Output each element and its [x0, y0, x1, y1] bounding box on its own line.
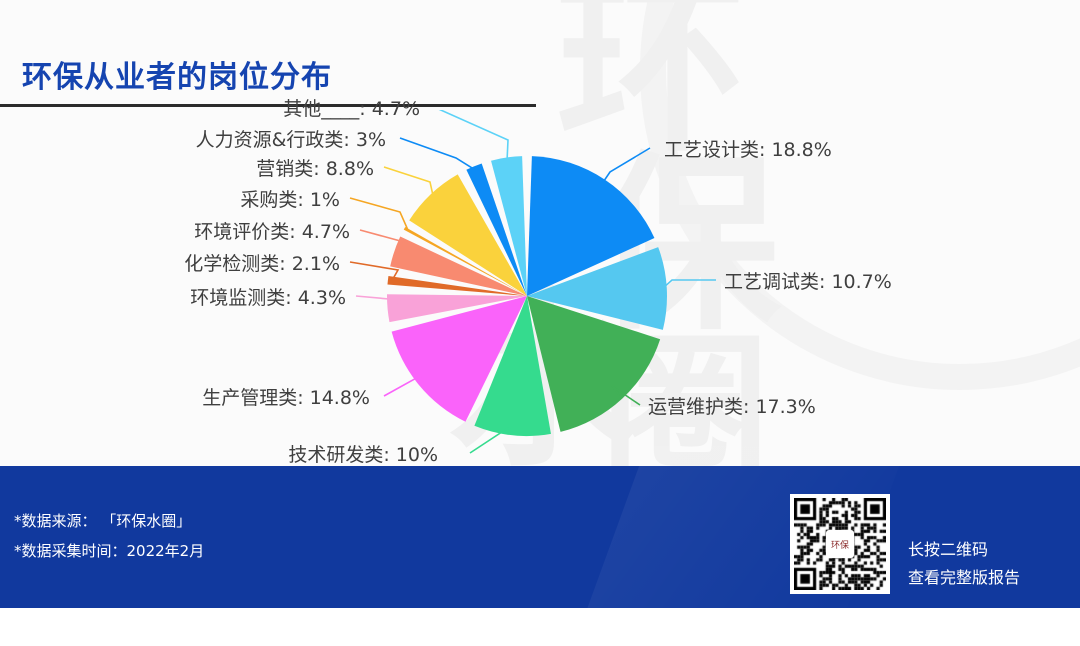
pie-chart [0, 110, 1080, 500]
pie-label: 环境监测类: 4.3% [190, 283, 346, 310]
pie-label: 技术研发类: 10% [288, 440, 438, 467]
leader-line [384, 167, 433, 197]
leader-line [350, 198, 408, 230]
leader-line [400, 138, 475, 170]
data-source-text: *数据来源： 「环保水圈」 [14, 510, 191, 531]
pie-label: 化学检测类: 2.1% [184, 249, 340, 276]
pie-label: 工艺设计类: 18.8% [664, 135, 832, 162]
pie-label: 人力资源&行政类: 3% [196, 125, 386, 152]
leader-line [603, 148, 650, 183]
pie-label: 环境评价类: 4.7% [194, 217, 350, 244]
slide-canvas: 环 保 水 圈 环保从业者的岗位分布 *数据来源： 「环保水圈」 *数据采集时间… [0, 0, 1080, 608]
pie-label: 其他____: 4.7% [283, 94, 420, 121]
qr-center-logo: 环保 [826, 530, 854, 558]
pie-label: 生产管理类: 14.8% [202, 383, 370, 410]
page-title: 环保从业者的岗位分布 [22, 52, 332, 96]
qr-caption-line-2: 查看完整版报告 [908, 564, 1020, 588]
pie-chart-svg [0, 110, 1080, 500]
pie-label: 营销类: 8.8% [256, 154, 374, 181]
leader-line [384, 376, 422, 396]
data-time-text: *数据采集时间：2022年2月 [14, 540, 204, 561]
pie-label: 工艺调试类: 10.7% [724, 267, 892, 294]
pie-label: 运营维护类: 17.3% [648, 392, 816, 419]
qr-caption-line-1: 长按二维码 [908, 536, 988, 560]
leader-line [663, 280, 716, 288]
pie-label: 采购类: 1% [240, 185, 340, 212]
title-divider [0, 104, 536, 107]
qr-center-label: 环保 [831, 538, 849, 551]
